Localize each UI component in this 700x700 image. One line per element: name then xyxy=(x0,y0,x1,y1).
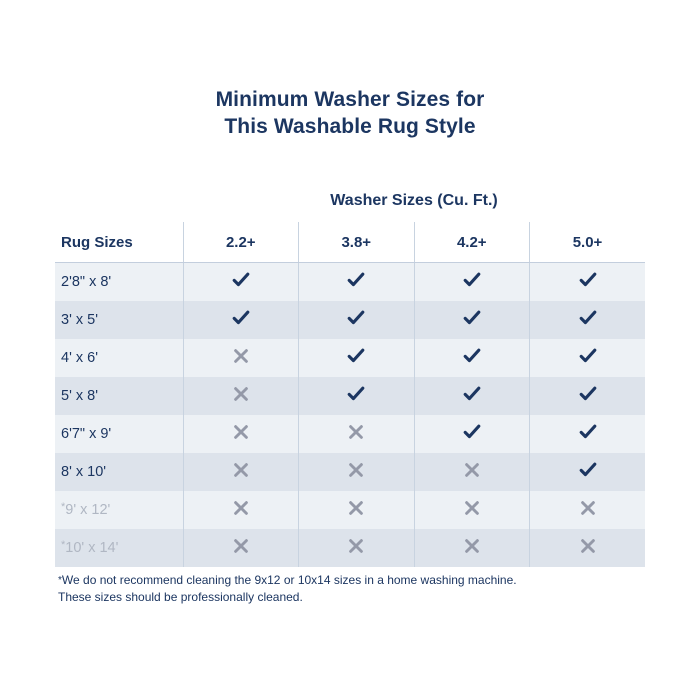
cross-icon xyxy=(231,422,251,442)
rug-size-label: *9' x 12' xyxy=(55,491,183,529)
page-title: Minimum Washer Sizes for This Washable R… xyxy=(0,86,700,140)
check-icon xyxy=(346,384,366,404)
cross-icon xyxy=(578,498,598,518)
table-header-row: Rug Sizes 2.2+ 3.8+ 4.2+ 5.0+ xyxy=(55,222,645,263)
rug-size-label: 8' x 10' xyxy=(55,453,183,491)
compatibility-cell xyxy=(414,529,530,567)
compatibility-cell xyxy=(183,263,299,301)
compatibility-cell xyxy=(414,263,530,301)
footnote-line-2: These sizes should be professionally cle… xyxy=(58,589,658,606)
check-icon xyxy=(578,346,598,366)
cross-icon xyxy=(346,536,366,556)
cross-icon xyxy=(462,536,482,556)
cross-icon xyxy=(346,460,366,480)
rug-size-label: *10' x 14' xyxy=(55,529,183,567)
compatibility-cell xyxy=(530,491,646,529)
rug-size-text: 4' x 6' xyxy=(61,350,98,366)
table-row: 5' x 8' xyxy=(55,377,645,415)
table-row: *10' x 14' xyxy=(55,529,645,567)
check-icon xyxy=(346,308,366,328)
footnote-line-1: *We do not recommend cleaning the 9x12 o… xyxy=(58,572,658,589)
cross-icon xyxy=(231,536,251,556)
compatibility-cell xyxy=(183,301,299,339)
compatibility-cell xyxy=(183,377,299,415)
column-header-washer-1: 3.8+ xyxy=(299,222,415,263)
compatibility-cell xyxy=(530,529,646,567)
column-header-washer-3: 5.0+ xyxy=(530,222,646,263)
compatibility-cell xyxy=(530,301,646,339)
compatibility-cell xyxy=(299,529,415,567)
compatibility-cell xyxy=(183,415,299,453)
check-icon xyxy=(462,422,482,442)
column-header-rug-sizes: Rug Sizes xyxy=(55,222,183,263)
compatibility-cell xyxy=(183,491,299,529)
check-icon xyxy=(578,308,598,328)
check-icon xyxy=(346,270,366,290)
table-row: *9' x 12' xyxy=(55,491,645,529)
column-header-washer-2: 4.2+ xyxy=(414,222,530,263)
compatibility-cell xyxy=(299,263,415,301)
table-row: 8' x 10' xyxy=(55,453,645,491)
cross-icon xyxy=(231,384,251,404)
cross-icon xyxy=(231,460,251,480)
table-row: 4' x 6' xyxy=(55,339,645,377)
cross-icon xyxy=(462,498,482,518)
washer-size-chart: Minimum Washer Sizes for This Washable R… xyxy=(0,0,700,700)
table-row: 3' x 5' xyxy=(55,301,645,339)
rug-size-text: 10' x 14' xyxy=(65,540,118,556)
washer-sizes-group-header: Washer Sizes (Cu. Ft.) xyxy=(183,192,645,210)
compatibility-cell xyxy=(183,339,299,377)
rug-size-text: 8' x 10' xyxy=(61,464,106,480)
compatibility-cell xyxy=(414,339,530,377)
table-body: 2'8" x 8'3' x 5'4' x 6'5' x 8'6'7" x 9'8… xyxy=(55,263,645,567)
compatibility-cell xyxy=(299,491,415,529)
rug-size-label: 5' x 8' xyxy=(55,377,183,415)
compatibility-cell xyxy=(530,377,646,415)
compatibility-cell xyxy=(414,453,530,491)
sizes-table-container: Rug Sizes 2.2+ 3.8+ 4.2+ 5.0+ 2'8" x 8'3… xyxy=(55,222,645,567)
rug-size-label: 4' x 6' xyxy=(55,339,183,377)
compatibility-cell xyxy=(299,415,415,453)
check-icon xyxy=(346,346,366,366)
check-icon xyxy=(578,270,598,290)
check-icon xyxy=(462,346,482,366)
cross-icon xyxy=(578,536,598,556)
compatibility-cell xyxy=(414,415,530,453)
compatibility-cell xyxy=(414,491,530,529)
compatibility-cell xyxy=(414,301,530,339)
cross-icon xyxy=(231,346,251,366)
page-title-line-1: Minimum Washer Sizes for xyxy=(0,86,700,113)
compatibility-cell xyxy=(530,453,646,491)
footnote-text-1: We do not recommend cleaning the 9x12 or… xyxy=(62,573,517,587)
rug-size-text: 9' x 12' xyxy=(65,502,110,518)
check-icon xyxy=(231,308,251,328)
check-icon xyxy=(462,270,482,290)
cross-icon xyxy=(346,422,366,442)
compatibility-cell xyxy=(299,453,415,491)
check-icon xyxy=(462,308,482,328)
footnote: *We do not recommend cleaning the 9x12 o… xyxy=(58,572,658,606)
compatibility-cell xyxy=(299,377,415,415)
rug-size-text: 2'8" x 8' xyxy=(61,274,111,290)
compatibility-cell xyxy=(183,453,299,491)
rug-size-text: 3' x 5' xyxy=(61,312,98,328)
page-title-line-2: This Washable Rug Style xyxy=(0,113,700,140)
compatibility-cell xyxy=(530,263,646,301)
cross-icon xyxy=(231,498,251,518)
check-icon xyxy=(578,384,598,404)
compatibility-cell xyxy=(530,339,646,377)
compatibility-cell xyxy=(183,529,299,567)
cross-icon xyxy=(462,460,482,480)
rug-size-text: 6'7" x 9' xyxy=(61,426,111,442)
check-icon xyxy=(462,384,482,404)
washer-compatibility-table: Rug Sizes 2.2+ 3.8+ 4.2+ 5.0+ 2'8" x 8'3… xyxy=(55,222,645,567)
table-row: 6'7" x 9' xyxy=(55,415,645,453)
rug-size-label: 2'8" x 8' xyxy=(55,263,183,301)
compatibility-cell xyxy=(414,377,530,415)
rug-size-label: 6'7" x 9' xyxy=(55,415,183,453)
column-header-washer-0: 2.2+ xyxy=(183,222,299,263)
cross-icon xyxy=(346,498,366,518)
rug-size-label: 3' x 5' xyxy=(55,301,183,339)
check-icon xyxy=(231,270,251,290)
compatibility-cell xyxy=(299,339,415,377)
check-icon xyxy=(578,460,598,480)
compatibility-cell xyxy=(530,415,646,453)
check-icon xyxy=(578,422,598,442)
compatibility-cell xyxy=(299,301,415,339)
table-row: 2'8" x 8' xyxy=(55,263,645,301)
table-header: Rug Sizes 2.2+ 3.8+ 4.2+ 5.0+ xyxy=(55,222,645,263)
rug-size-text: 5' x 8' xyxy=(61,388,98,404)
